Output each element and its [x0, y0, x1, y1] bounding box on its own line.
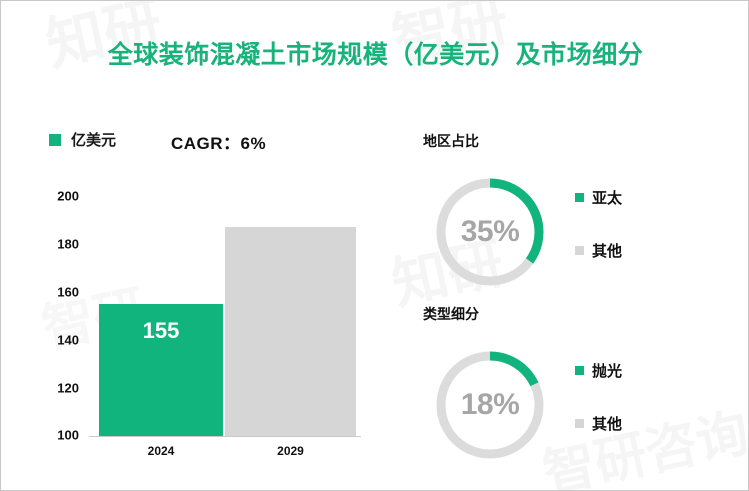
x-axis-tick-2024: 2024 [99, 444, 223, 458]
legend-row-asia-pacific: 亚太 [575, 187, 622, 208]
x-axis-tick-2029: 2029 [225, 444, 356, 458]
bar-2029[interactable] [225, 227, 356, 436]
legend-label: 其他 [592, 240, 622, 261]
donut-legend-region: 亚太 其他 [575, 187, 622, 261]
y-axis-labels: 200 180 160 140 120 100 [25, 1, 79, 491]
legend-swatch-gray-icon [575, 419, 584, 428]
y-axis-tick: 120 [33, 381, 79, 396]
legend-swatch-gray-icon [575, 246, 584, 255]
donut-heading-type: 类型细分 [423, 304, 479, 324]
bar-chart: 200 180 160 140 120 100 155 2024 2029 [1, 1, 401, 491]
donut-center-label-region: 35% [431, 173, 549, 291]
y-axis-tick: 180 [33, 237, 79, 252]
legend-row-others: 其他 [575, 413, 622, 434]
legend-row-polished: 抛光 [575, 360, 622, 381]
donut-legend-type: 抛光 其他 [575, 360, 622, 434]
y-axis-tick: 160 [33, 285, 79, 300]
donut-chart-region[interactable]: 35% [431, 173, 549, 291]
legend-swatch-green-icon [575, 193, 584, 202]
legend-label: 其他 [592, 413, 622, 434]
donut-heading-region: 地区占比 [423, 131, 479, 151]
legend-row-others: 其他 [575, 240, 622, 261]
legend-label: 抛光 [592, 360, 622, 381]
donut-block-region: 地区占比 35% 亚太 其他 [423, 131, 723, 291]
bar-plot-area: 155 [89, 196, 361, 436]
legend-label: 亚太 [592, 187, 622, 208]
bar-value-label: 155 [99, 318, 223, 344]
donut-center-label-type: 18% [431, 346, 549, 464]
x-axis-line [89, 436, 361, 437]
legend-swatch-green-icon [575, 366, 584, 375]
y-axis-tick: 200 [33, 189, 79, 204]
donut-chart-type[interactable]: 18% [431, 346, 549, 464]
y-axis-tick: 140 [33, 333, 79, 348]
bar-2024[interactable]: 155 [99, 304, 223, 436]
donut-block-type: 类型细分 18% 抛光 其他 [423, 304, 723, 464]
infographic-canvas: 知研 智研 知研 智研咨询 智研 全球装饰混凝土市场规模（亿美元）及市场细分 亿… [0, 0, 749, 491]
y-axis-tick: 100 [33, 428, 79, 443]
